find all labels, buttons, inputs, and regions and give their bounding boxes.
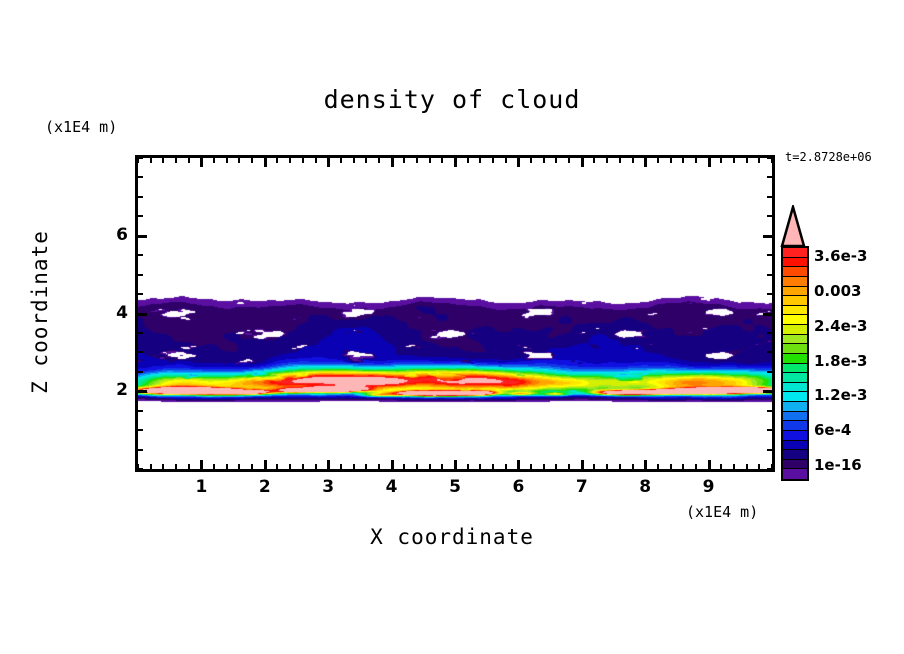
x-axis-top-minor-tick [226,158,228,163]
x-axis-minor-tick [162,464,164,469]
x-axis-minor-tick [619,464,621,469]
x-axis-major-tick [264,460,267,469]
x-axis-top-major-tick [200,158,203,167]
x-axis-top-minor-tick [543,158,545,163]
x-axis-minor-tick [251,464,253,469]
x-axis-minor-tick [657,464,659,469]
colorbar-band [783,248,807,258]
x-axis-top-minor-tick [289,158,291,163]
x-axis-minor-tick [746,464,748,469]
y-axis-minor-tick [138,274,143,276]
x-axis-top-minor-tick [276,158,278,163]
colorbar-tick-label: 3.6e-3 [814,247,867,265]
colorbar-band [783,258,807,268]
colorbar-band [783,267,807,277]
x-axis-top-minor-tick [150,158,152,163]
x-axis-top-minor-tick [695,158,697,163]
x-axis-minor-tick [479,464,481,469]
x-axis-minor-tick [429,464,431,469]
x-axis-top-minor-tick [492,158,494,163]
colorbar-gradient[interactable] [781,246,809,481]
x-axis-minor-tick [632,464,634,469]
x-axis-top-minor-tick [251,158,253,163]
y-axis-right-minor-tick [767,429,772,431]
x-axis-top-minor-tick [302,158,304,163]
x-axis-tick-label: 4 [377,477,407,497]
horizontal-unit-label: (x1E4 m) [686,503,758,521]
x-axis-top-major-tick [454,158,457,167]
x-axis-minor-tick [340,464,342,469]
y-axis-right-minor-tick [767,274,772,276]
colorbar-band [783,277,807,287]
colorbar-band [783,460,807,470]
y-axis-right-minor-tick [767,196,772,198]
colorbar-band [783,383,807,393]
x-axis-minor-tick [276,464,278,469]
x-axis-top-minor-tick [530,158,532,163]
x-axis-top-minor-tick [365,158,367,163]
x-axis-minor-tick [441,464,443,469]
x-axis-minor-tick [568,464,570,469]
x-axis-major-tick [644,460,647,469]
colorbar-tick-label: 2.4e-3 [814,317,867,335]
x-axis-major-tick [454,460,457,469]
x-axis-top-minor-tick [353,158,355,163]
y-axis-minor-tick [138,215,143,217]
y-axis-right-major-tick [763,235,772,238]
x-axis-minor-tick [543,464,545,469]
colorbar-band [783,450,807,460]
x-axis-minor-tick [492,464,494,469]
y-axis-minor-tick [138,410,143,412]
x-axis-top-minor-tick [568,158,570,163]
x-axis-top-minor-tick [467,158,469,163]
x-axis-top-minor-tick [619,158,621,163]
y-axis-minor-tick [138,293,143,295]
y-axis-minor-tick [138,468,143,470]
y-axis-right-minor-tick [767,215,772,217]
x-axis-tick-label: 7 [567,477,597,497]
x-axis-top-minor-tick [429,158,431,163]
y-axis-right-minor-tick [767,410,772,412]
x-axis-title: X coordinate [0,525,904,549]
colorbar-band [783,373,807,383]
colorbar-band [783,412,807,422]
x-axis-tick-label: 5 [440,477,470,497]
y-axis-right-major-tick [763,390,772,393]
x-axis-top-minor-tick [403,158,405,163]
x-axis-minor-tick [213,464,215,469]
y-axis-title: Z coordinate [28,212,52,412]
colorbar-tick-label: 1.8e-3 [814,352,867,370]
x-axis-major-tick [391,460,394,469]
colorbar-band [783,441,807,451]
vertical-unit-label: (x1E4 m) [45,118,117,136]
y-axis-right-minor-tick [767,371,772,373]
x-axis-minor-tick [593,464,595,469]
x-axis-top-minor-tick [378,158,380,163]
x-axis-top-minor-tick [315,158,317,163]
x-axis-tick-label: 8 [630,477,660,497]
colorbar-band [783,344,807,354]
x-axis-minor-tick [720,464,722,469]
x-axis-minor-tick [733,464,735,469]
x-axis-top-minor-tick [670,158,672,163]
y-axis-right-minor-tick [767,293,772,295]
x-axis-minor-tick [315,464,317,469]
x-axis-major-tick [708,460,711,469]
colorbar-band [783,306,807,316]
y-axis-tick-label: 4 [98,303,128,323]
x-axis-minor-tick [226,464,228,469]
x-axis-top-minor-tick [758,158,760,163]
x-axis-minor-tick [188,464,190,469]
colorbar-band [783,469,807,479]
x-axis-major-tick [200,460,203,469]
x-axis-tick-label: 1 [186,477,216,497]
y-axis-major-tick [138,390,147,393]
colorbar-tick-label: 1.2e-3 [814,386,867,404]
colorbar-band [783,315,807,325]
y-axis-right-major-tick [763,313,772,316]
y-axis-right-minor-tick [767,351,772,353]
x-axis-top-minor-tick [213,158,215,163]
x-axis-top-major-tick [327,158,330,167]
colorbar-band [783,325,807,335]
y-axis-minor-tick [138,176,143,178]
colorbar-band [783,354,807,364]
x-axis-top-minor-tick [632,158,634,163]
x-axis-top-minor-tick [720,158,722,163]
contour-field-canvas [138,158,772,469]
y-axis-tick-label: 2 [98,380,128,400]
x-axis-top-major-tick [644,158,647,167]
x-axis-minor-tick [403,464,405,469]
y-axis-major-tick [138,313,147,316]
y-axis-tick-label: 6 [98,225,128,245]
x-axis-tick-label: 2 [250,477,280,497]
colorbar-overflow-arrow [779,205,807,247]
x-axis-top-major-tick [517,158,520,167]
y-axis-minor-tick [138,157,143,159]
x-axis-minor-tick [682,464,684,469]
x-axis-top-minor-tick [555,158,557,163]
x-axis-minor-tick [365,464,367,469]
x-axis-top-major-tick [391,158,394,167]
x-axis-top-minor-tick [162,158,164,163]
colorbar-band [783,421,807,431]
x-axis-minor-tick [238,464,240,469]
colorbar-tick-label: 1e-16 [814,456,862,474]
x-axis-top-major-tick [708,158,711,167]
x-axis-minor-tick [302,464,304,469]
colorbar-tick-label: 6e-4 [814,421,851,439]
x-axis-tick-label: 6 [503,477,533,497]
y-axis-minor-tick [138,449,143,451]
colorbar-band [783,335,807,345]
colorbar-tick-label: 0.003 [814,282,861,300]
x-axis-top-minor-tick [340,158,342,163]
x-axis-minor-tick [530,464,532,469]
y-axis-minor-tick [138,254,143,256]
x-axis-top-major-tick [581,158,584,167]
colorbar-band [783,364,807,374]
x-axis-major-tick [517,460,520,469]
y-axis-right-minor-tick [767,332,772,334]
x-axis-tick-label: 9 [694,477,724,497]
x-axis-major-tick [327,460,330,469]
x-axis-minor-tick [555,464,557,469]
y-axis-minor-tick [138,371,143,373]
y-axis-major-tick [138,235,147,238]
x-axis-top-minor-tick [479,158,481,163]
y-axis-minor-tick [138,429,143,431]
x-axis-minor-tick [467,464,469,469]
page-title: density of cloud [0,85,904,114]
y-axis-right-minor-tick [767,176,772,178]
x-axis-tick-label: 3 [313,477,343,497]
x-axis-major-tick [581,460,584,469]
x-axis-minor-tick [378,464,380,469]
x-axis-top-minor-tick [175,158,177,163]
x-axis-top-minor-tick [733,158,735,163]
x-axis-top-minor-tick [746,158,748,163]
colorbar-band [783,402,807,412]
x-axis-top-major-tick [264,158,267,167]
colorbar-band [783,287,807,297]
x-axis-minor-tick [606,464,608,469]
x-axis-top-minor-tick [657,158,659,163]
contour-plot-area [135,155,775,472]
y-axis-minor-tick [138,332,143,334]
x-axis-minor-tick [416,464,418,469]
x-axis-top-minor-tick [416,158,418,163]
y-axis-right-minor-tick [767,468,772,470]
x-axis-top-minor-tick [188,158,190,163]
y-axis-minor-tick [138,196,143,198]
x-axis-top-minor-tick [682,158,684,163]
y-axis-right-minor-tick [767,449,772,451]
timestamp-annotation: t=2.8728e+06 [785,150,872,164]
colorbar-band [783,296,807,306]
x-axis-minor-tick [175,464,177,469]
x-axis-minor-tick [670,464,672,469]
x-axis-top-minor-tick [505,158,507,163]
y-axis-right-minor-tick [767,254,772,256]
x-axis-top-minor-tick [238,158,240,163]
x-axis-minor-tick [505,464,507,469]
x-axis-top-minor-tick [606,158,608,163]
colorbar-band [783,431,807,441]
colorbar-band [783,392,807,402]
x-axis-top-minor-tick [593,158,595,163]
x-axis-minor-tick [150,464,152,469]
x-axis-minor-tick [353,464,355,469]
x-axis-minor-tick [758,464,760,469]
y-axis-right-minor-tick [767,157,772,159]
x-axis-minor-tick [695,464,697,469]
y-axis-minor-tick [138,351,143,353]
x-axis-top-minor-tick [441,158,443,163]
x-axis-minor-tick [289,464,291,469]
